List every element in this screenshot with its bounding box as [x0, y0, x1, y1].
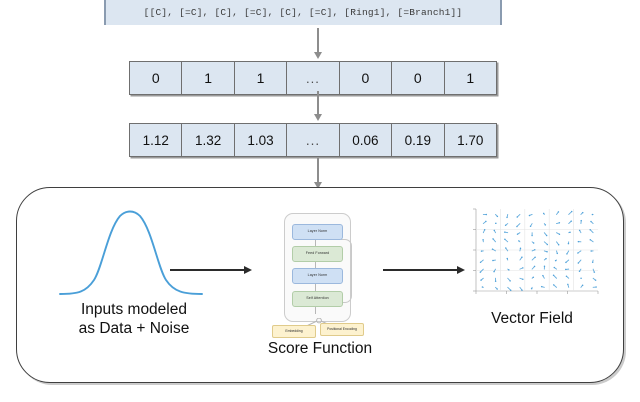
- onehot-cell: 1: [182, 62, 234, 94]
- score-function-network: Layer Norm Feed Forward Layer Norm Self …: [284, 213, 356, 323]
- block-self-attention: Self Attention: [292, 291, 343, 307]
- block-layer-norm-1: Layer Norm: [292, 224, 343, 240]
- onehot-cell: 1: [235, 62, 287, 94]
- arrow-head: [314, 52, 322, 59]
- token-sequence-box: [[C], [=C], [C], [=C], [C], [=C], [Ring1…: [104, 0, 502, 25]
- inputs-caption-line2: as Data + Noise: [40, 319, 228, 338]
- onehot-cell: 0: [130, 62, 182, 94]
- block-layer-norm-2: Layer Norm: [292, 268, 343, 284]
- gaussian-curve-chart: [58, 206, 204, 302]
- onehot-cell: 0: [392, 62, 444, 94]
- arrow-head: [244, 266, 252, 274]
- embedding-vector-row: 1.12 1.32 1.03 ... 0.06 0.19 1.70: [129, 123, 497, 157]
- block-feed-forward: Feed Forward: [292, 246, 343, 262]
- onehot-cell-ellipsis: ...: [287, 62, 339, 94]
- arrow-stem: [317, 91, 319, 115]
- onehot-cell: 1: [445, 62, 496, 94]
- block-embedding: Embedding: [272, 325, 316, 338]
- arrow-stem: [170, 269, 244, 271]
- arrow-head: [314, 114, 322, 121]
- embedding-cell: 1.70: [445, 124, 496, 156]
- score-function-caption: Score Function: [250, 340, 390, 358]
- embedding-cell-ellipsis: ...: [287, 124, 339, 156]
- arrow-embedding-to-panel: [313, 158, 323, 190]
- arrow-stem: [317, 158, 319, 183]
- arrow-inputs-to-score-function: [170, 265, 252, 275]
- block-positional-encoding: Positional Encoding: [320, 323, 364, 336]
- embedding-cell: 1.32: [182, 124, 234, 156]
- onehot-vector-row: 0 1 1 ... 0 0 1: [129, 61, 497, 95]
- embedding-cell: 0.06: [340, 124, 392, 156]
- arrow-score-function-to-vector-field: [383, 265, 465, 275]
- token-sequence-text: [[C], [=C], [C], [=C], [C], [=C], [Ring1…: [144, 7, 463, 18]
- inputs-caption: Inputs modeled as Data + Noise: [40, 300, 228, 338]
- embedding-cell: 1.12: [130, 124, 182, 156]
- arrow-tokens-to-onehot: [313, 28, 323, 60]
- onehot-cell: 0: [340, 62, 392, 94]
- vector-field-chart: [462, 205, 602, 305]
- embedding-cell: 1.03: [235, 124, 287, 156]
- arrow-stem: [317, 28, 319, 53]
- vector-field-caption: Vector Field: [452, 310, 612, 328]
- inputs-caption-line1: Inputs modeled: [40, 300, 228, 319]
- arrow-stem: [383, 269, 457, 271]
- embedding-cell: 0.19: [392, 124, 444, 156]
- arrow-onehot-to-embedding: [313, 91, 323, 122]
